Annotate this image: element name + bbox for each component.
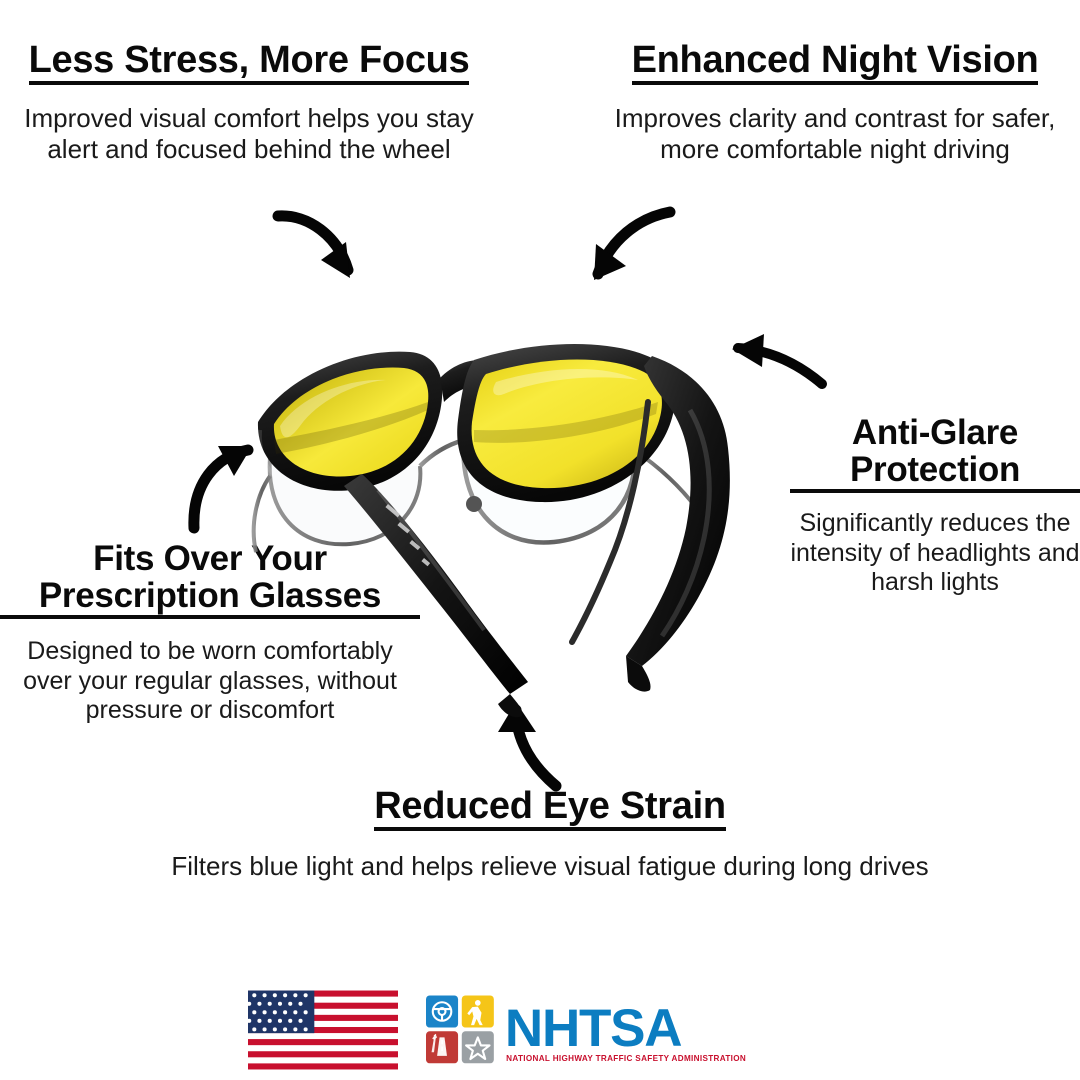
callout-body: Improved visual comfort helps you stay a…	[0, 103, 498, 164]
callout-enhanced-night-vision: Enhanced Night Vision Improves clarity a…	[590, 40, 1080, 165]
nhtsa-logo: NHTSA NATIONAL HIGHWAY TRAFFIC SAFETY AD…	[426, 993, 833, 1067]
arrow-to-lens-left	[268, 198, 378, 293]
callout-less-stress-more-focus: Less Stress, More Focus Improved visual …	[0, 40, 498, 165]
callout-title: Less Stress, More Focus	[0, 40, 498, 85]
tile-steering-wheel	[426, 995, 458, 1027]
nhtsa-wordmark: NHTSA	[504, 999, 680, 1058]
tile-star	[461, 1031, 493, 1063]
arrow-to-lens-right	[572, 196, 682, 296]
callout-title: Enhanced Night Vision	[590, 40, 1080, 85]
infographic-canvas: Less Stress, More Focus Improved visual …	[0, 0, 1080, 1080]
product-image-fit-over-night-driving-glasses	[228, 290, 848, 720]
us-flag	[248, 988, 398, 1072]
callout-body: Improves clarity and contrast for safer,…	[590, 103, 1080, 164]
callout-body: Filters blue light and helps relieve vis…	[150, 851, 950, 882]
nhtsa-icon-tiles	[426, 995, 494, 1063]
nhtsa-tagline: NATIONAL HIGHWAY TRAFFIC SAFETY ADMINIST…	[506, 1054, 746, 1063]
callout-reduced-eye-strain: Reduced Eye Strain Filters blue light an…	[150, 786, 950, 882]
footer-logos: NHTSA NATIONAL HIGHWAY TRAFFIC SAFETY AD…	[0, 988, 1080, 1072]
